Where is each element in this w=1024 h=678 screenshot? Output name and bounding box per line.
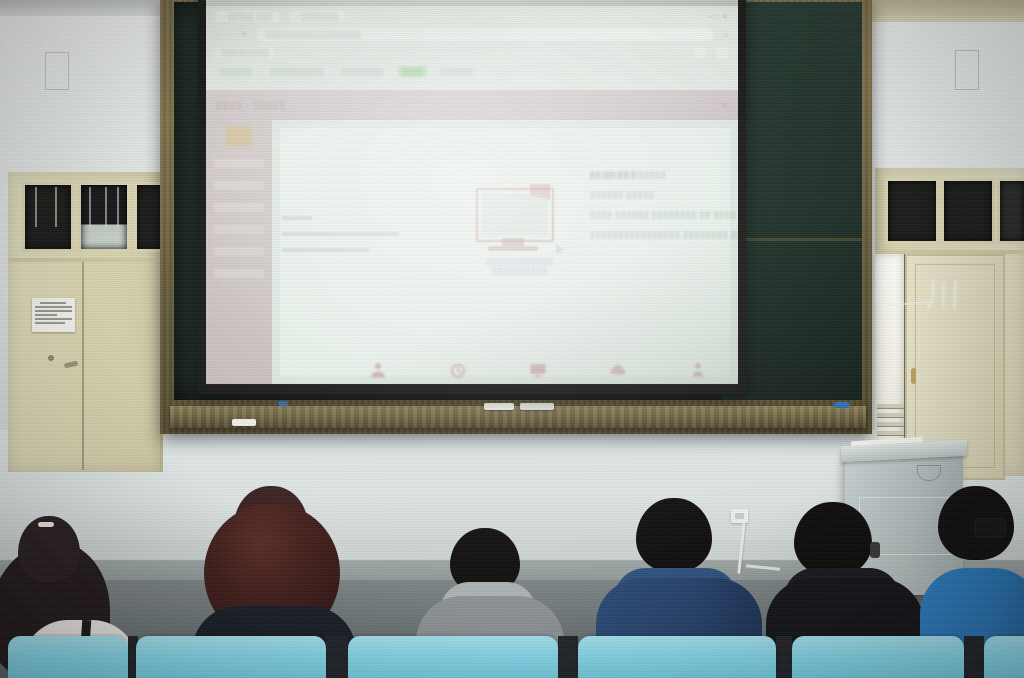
text-line: ▒▒▒▒ ▒▒▒▒▒▒ ▒▒▒▒▒▒▒▒ ▒▒ ▒▒▒▒ [590, 210, 738, 221]
bookmark-item[interactable]: ▒▒▒▒▒▒▒▒▒▒ [266, 66, 327, 77]
gear-icon[interactable] [716, 47, 728, 58]
text-line: ▒▒▒▒▒▒▒▒▒▒▒▒▒▒▒▒ ▒▒▒▒▒▒▒▒ ▒▒▒▒ [590, 230, 738, 241]
caption-line-1: ▒▒▒▒▒▒▒▒▒▒▒▒ [468, 258, 572, 267]
hair-clip [38, 522, 54, 527]
chair-back[interactable] [348, 636, 558, 678]
marker-pen[interactable] [278, 401, 288, 406]
browser-window: ▫ ▒▒▒▒▒ ▒▒▒ ▫ ▒▒▒▒▒▒▒ ─ □ ✕ ‹ › ↻ ▒▒▒▒▒▒… [206, 0, 738, 90]
browser-tab-active[interactable]: ▫ ▒▒▒▒▒ ▒▒▒ [216, 11, 279, 22]
extension-icon[interactable] [694, 47, 706, 58]
bookmark-item[interactable]: ▒▒▒▒▒▒▒▒ [337, 66, 388, 77]
chair-back[interactable] [136, 636, 326, 678]
cloud-icon[interactable] [609, 361, 627, 379]
tab-strip[interactable]: ▫ ▒▒▒▒▒ ▒▒▒ ▫ ▒▒▒▒▒▒▒ ─ □ ✕ [206, 8, 738, 24]
chalk-writing: 川 [925, 267, 962, 317]
sidebar-item[interactable] [214, 203, 264, 212]
lectern-logo [917, 465, 941, 481]
text-line: ▒▒▒▒▒▒ ▒▒▒▒▒ [590, 190, 738, 201]
right-text-block: ▒▒ ▒▒ ▒▒▒ ▒▒▒▒▒▒▒ ▒▒▒▒▒▒ ▒▒▒▒▒▒ ▒▒▒▒▒ ▒▒… [590, 170, 738, 250]
door-window-pane [78, 182, 130, 252]
breadcrumb[interactable]: ▒▒▒▒ › ▒▒▒▒▒ [216, 101, 286, 110]
caption-line-2: ▒▒▒▒▒▒▒▒▒▒ [468, 267, 572, 276]
blackboard-assembly: ⸺ 川 ▫ ▒▒▒▒▒ ▒▒▒ ▫ ▒▒▒▒▒▒▒ ─ □ ✕ [160, 0, 872, 434]
chair-back[interactable] [578, 636, 776, 678]
bookmarks-bar[interactable]: ▒▒▒▒▒▒ ▒▒▒▒▒▒▒▒▒▒ ▒▒▒▒▒▒▒▒ ▒▒▒▒ ▒▒▒▒▒▒ [206, 62, 738, 80]
bookmark-item-highlighted[interactable]: ▒▒▒▒ [398, 66, 427, 77]
door-seam [82, 262, 84, 470]
chalk-ledge [170, 406, 866, 428]
wall-mark-right [955, 50, 979, 90]
chalk-piece[interactable] [232, 419, 256, 426]
close-icon[interactable]: ✕ [721, 101, 728, 110]
titlebar [206, 0, 738, 6]
page-main-content: ▒▒▒▒▒▒▒▒▒▒▒▒ ▒▒▒▒▒▒▒▒▒▒ ▒▒ ▒▒ ▒▒▒ ▒▒▒▒▒▒… [272, 120, 738, 384]
back-icon[interactable]: ‹ [216, 30, 219, 39]
head [794, 502, 872, 576]
forward-icon[interactable]: › [229, 30, 232, 39]
sidebar-item[interactable] [214, 159, 264, 168]
monitor-illustration: ▒▒▒▒▒▒▒▒▒▒▒▒ ▒▒▒▒▒▒▒▒▒▒ [468, 182, 572, 278]
chalk-piece[interactable] [484, 403, 514, 410]
door-handle-left[interactable] [64, 361, 79, 369]
eyeglasses-icon [974, 518, 1006, 538]
clock-icon[interactable] [449, 361, 467, 379]
sidebar-item[interactable] [214, 269, 264, 278]
home-icon[interactable]: ⌂ [723, 30, 728, 39]
door-handle-right[interactable] [911, 368, 916, 384]
earpiece [870, 542, 880, 558]
page-sidebar[interactable] [206, 120, 272, 384]
monitor-icon [476, 188, 554, 242]
marker-pen[interactable] [834, 402, 850, 408]
door-lock-left[interactable] [48, 355, 54, 361]
search-input[interactable]: ▒▒▒▒▒▒▒▒▒ [216, 47, 274, 58]
chair-back[interactable] [792, 636, 964, 678]
toolbar-row[interactable]: ▒▒▒▒▒▒▒▒▒ [206, 44, 738, 60]
ceiling-band-right [860, 0, 1024, 22]
head [636, 498, 712, 572]
cursor-icon [556, 244, 564, 254]
door-window-pane [997, 178, 1024, 244]
page-header-bar: ▒▒▒▒ › ▒▒▒▒▒ ✕ [206, 90, 738, 120]
chalk-piece[interactable] [520, 403, 554, 410]
classroom-door-right[interactable] [875, 168, 1024, 476]
monitor-stand [502, 238, 524, 246]
text-line: ▒▒ ▒▒ ▒▒▒ [590, 170, 635, 181]
classroom-photo: ⸺ 川 ▫ ▒▒▒▒▒ ▒▒▒ ▫ ▒▒▒▒▒▒▒ ─ □ ✕ [0, 0, 1024, 678]
wall-mark-left [45, 52, 69, 90]
browser-tab[interactable]: ▫ ▒▒▒▒▒▒▒ [289, 11, 345, 22]
monitor-icon[interactable] [529, 361, 547, 379]
bookmark-item[interactable]: ▒▒▒▒▒▒ [216, 66, 256, 77]
door-window-pane [885, 178, 939, 244]
chair-back[interactable] [984, 636, 1024, 678]
reload-icon[interactable]: ↻ [241, 30, 247, 39]
users-icon[interactable] [369, 361, 387, 379]
person-icon[interactable] [689, 361, 707, 379]
sidebar-item[interactable] [214, 225, 264, 234]
web-page-body: ▒▒▒▒ › ▒▒▒▒▒ ✕ [206, 90, 738, 384]
door-window-pane [22, 182, 74, 252]
left-text-lines [282, 216, 432, 264]
projection-screen-surface[interactable]: ▫ ▒▒▒▒▒ ▒▒▒ ▫ ▒▒▒▒▒▒▒ ─ □ ✕ ‹ › ↻ ▒▒▒▒▒▒… [206, 0, 738, 384]
chair-back[interactable] [8, 636, 128, 678]
footer-icon-row[interactable] [338, 348, 738, 384]
classroom-door-left[interactable] [8, 172, 163, 472]
sidebar-item[interactable] [214, 247, 264, 256]
address-bar-row[interactable]: ‹ › ↻ ▒▒▒▒▒▒▒▒▒▒▒▒▒▒▒▒▒▒ ⌂ [206, 26, 738, 42]
window-controls[interactable]: ─ □ ✕ [708, 12, 728, 21]
illustration-caption: ▒▒▒▒▒▒▒▒▒▒▒▒ ▒▒▒▒▒▒▒▒▒▒ [468, 258, 572, 276]
sidebar-item[interactable] [214, 181, 264, 190]
monitor-base [488, 246, 538, 251]
bookmark-item[interactable]: ▒▒▒▒▒▒ [437, 66, 477, 77]
logo [226, 126, 252, 146]
projection-screen-bezel: ▫ ▒▒▒▒▒ ▒▒▒ ▫ ▒▒▒▒▒▒▒ ─ □ ✕ ‹ › ↻ ▒▒▒▒▒▒… [198, 0, 746, 394]
door-window-pane [941, 178, 995, 244]
address-input[interactable]: ▒▒▒▒▒▒▒▒▒▒▒▒▒▒▒▒▒▒ [257, 28, 713, 41]
door-notice-paper [32, 298, 75, 332]
